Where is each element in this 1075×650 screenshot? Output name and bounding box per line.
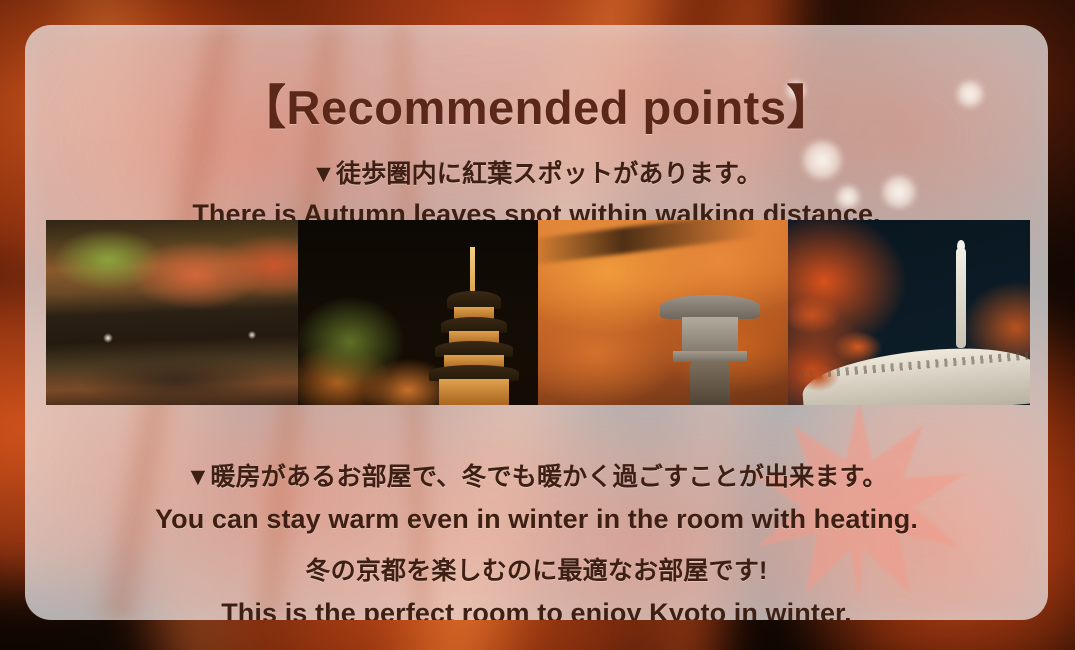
photo-art [46,220,298,405]
photo-illuminated-autumn-garden-pond [46,220,298,405]
photo-five-story-pagoda-night-illumination [298,220,538,405]
pagoda-shape-icon [426,247,522,405]
page-root: 【Recommended points】 ▼徒歩圏内に紅葉スポットがあります。 … [0,0,1075,650]
text-jp-walking-distance: ▼徒歩圏内に紅葉スポットがあります。 [25,154,1048,190]
text-block-heating: ▼暖房があるお部屋で、冬でも暖かく過ごすことが出来ます。 You can sta… [25,457,1048,535]
recommended-points-card: 【Recommended points】 ▼徒歩圏内に紅葉スポットがあります。 … [25,25,1048,620]
pagoda-finial-icon [950,248,972,352]
photo-stone-lantern-orange-maple [538,220,788,405]
photo-strip [46,220,1030,405]
text-block-walking-distance: ▼徒歩圏内に紅葉スポットがあります。 There is Autumn leave… [25,154,1048,230]
maple-cluster-icon [788,285,908,405]
page-title: 【Recommended points】 [25,69,1048,138]
text-en-winter-kyoto: This is the perfect room to enjoy Kyoto … [25,598,1048,620]
stone-lantern-icon [660,295,760,405]
text-jp-winter-kyoto: 冬の京都を楽しむのに最適なお部屋です! [25,551,1048,587]
text-jp-heating: ▼暖房があるお部屋で、冬でも暖かく過ごすことが出来ます。 [25,457,1048,493]
text-en-heating: You can stay warm even in winter in the … [25,504,1048,535]
text-block-winter-kyoto: 冬の京都を楽しむのに最適なお部屋です! This is the perfect … [25,551,1048,620]
photo-pagoda-finial-red-maple-night [788,220,1030,405]
